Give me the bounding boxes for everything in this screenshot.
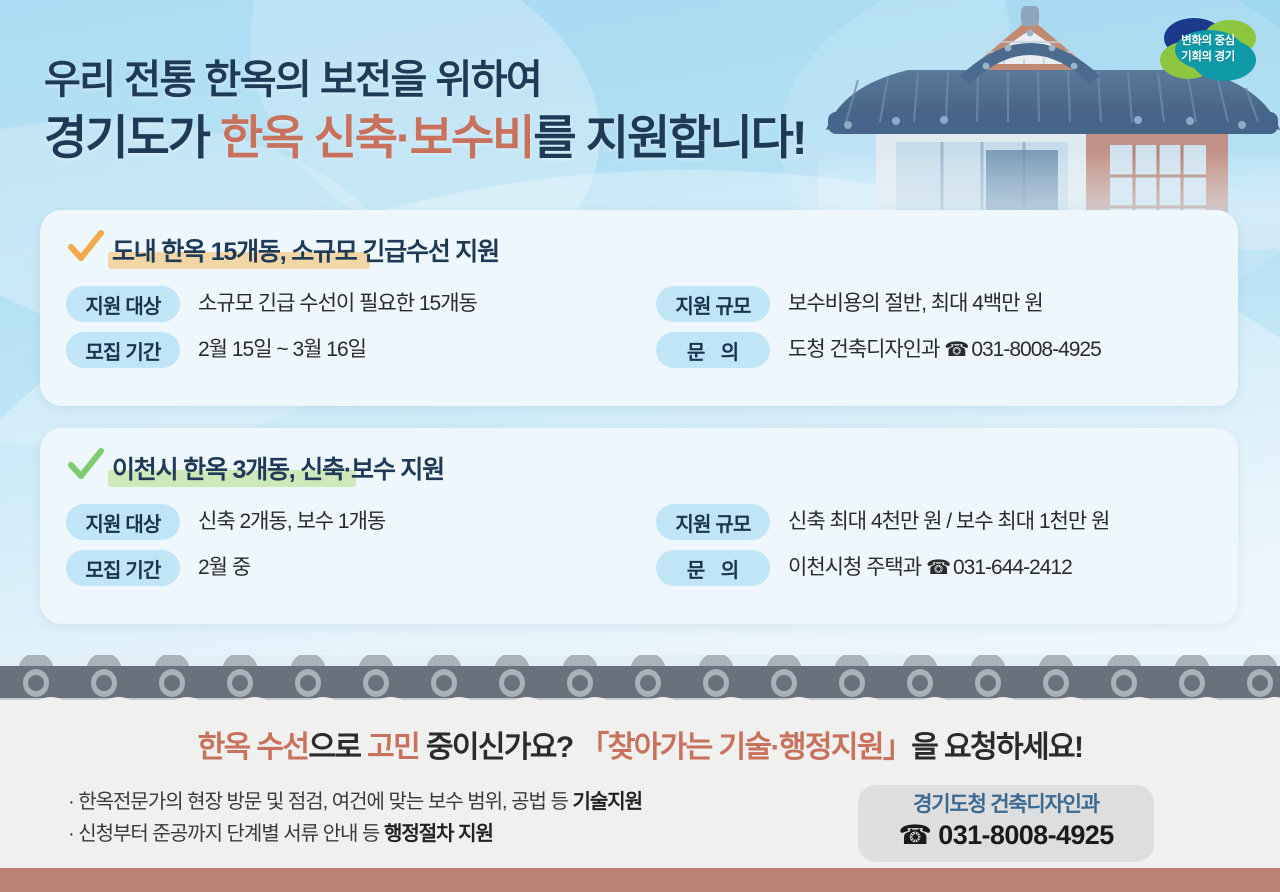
check-mark-icon (68, 230, 104, 264)
card-1-inquiry-dept: 도청 건축디자인과 (788, 338, 939, 361)
support-card-1: 도내 한옥 15개동, 소규모 긴급수선 지원 지원 대상 소규모 긴급 수선이… (40, 210, 1238, 406)
contact-telephone: ☎ 031-8008-4925 (858, 819, 1154, 853)
card-2-value-inquiry: 이천시청 주택과☎031-644-2412 (788, 550, 1072, 586)
card-1-row2-right: 문 의 도청 건축디자인과☎031-8008-4925 (656, 332, 1216, 368)
headline-line2-suffix: 를 지원합니다! (533, 111, 805, 164)
cta-part-3: 고민 (367, 731, 419, 764)
card-2-label-target: 지원 대상 (66, 504, 180, 540)
poster-root: 변화의 중심 기회의 경기 우리 전통 한옥의 보전을 위하여 경기도가 한옥 … (0, 0, 1280, 892)
card-1-value-amount: 보수비용의 절반, 최대 4백만 원 (788, 286, 1043, 322)
card-2-label-period: 모집 기간 (66, 550, 180, 586)
check-mark-icon (68, 448, 104, 482)
headline-line-2: 경기도가 한옥 신축·보수비를 지원합니다! (44, 112, 1164, 164)
bullet-1-text: · 한옥전문가의 현장 방문 및 점검, 여건에 맞는 보수 범위, 공법 등 (68, 791, 572, 813)
card-1-label-inquiry: 문 의 (656, 332, 770, 368)
card-2-title: 이천시 한옥 3개동, 신축·보수 지원 (112, 456, 444, 484)
benefit-bullet-list: · 한옥전문가의 현장 방문 및 점검, 여건에 맞는 보수 범위, 공법 등 … (68, 786, 642, 851)
benefit-bullet-item: · 신청부터 준공까지 단계별 서류 안내 등 행정절차 지원 (68, 818, 642, 850)
card-1-row1-right: 지원 규모 보수비용의 절반, 최대 4백만 원 (656, 286, 1216, 322)
cta-part-2: 으로 (308, 731, 367, 764)
logo-slogan-text: 변화의 중심 기회의 경기 (1154, 34, 1262, 65)
card-2-row-2: 모집 기간 2월 중 문 의 이천시청 주택과☎031-644-2412 (66, 550, 1216, 586)
benefit-bullet-item: · 한옥전문가의 현장 방문 및 점검, 여건에 맞는 보수 범위, 공법 등 … (68, 786, 642, 818)
card-2-row1-left: 지원 대상 신축 2개동, 보수 1개동 (66, 504, 656, 540)
contact-box[interactable]: 경기도청 건축디자인과 ☎ 031-8008-4925 (858, 785, 1154, 862)
cta-headline: 한옥 수선으로 고민 중이신가요? 「찾아가는 기술·행정지원」을 요청하세요! (0, 722, 1280, 766)
cta-part-1: 한옥 수선 (198, 731, 309, 764)
telephone-icon: ☎ (898, 820, 931, 850)
card-1-row1-left: 지원 대상 소규모 긴급 수선이 필요한 15개동 (66, 286, 656, 322)
bullet-2-text: · 신청부터 준공까지 단계별 서류 안내 등 (68, 823, 384, 845)
headline-line-1: 우리 전통 한옥의 보전을 위하여 (44, 58, 1164, 102)
card-1-rows: 지원 대상 소규모 긴급 수선이 필요한 15개동 지원 규모 보수비용의 절반… (66, 286, 1216, 378)
cta-part-5: 「찾아가는 기술·행정지원」 (579, 731, 911, 764)
bullet-1-emphasis: 기술지원 (572, 791, 642, 813)
contact-telephone-number: 031-8008-4925 (938, 820, 1113, 850)
card-1-label-period: 모집 기간 (66, 332, 180, 368)
card-1-value-target: 소규모 긴급 수선이 필요한 15개동 (198, 286, 477, 322)
card-2-row-1: 지원 대상 신축 2개동, 보수 1개동 지원 규모 신축 최대 4천만 원 /… (66, 504, 1216, 540)
headline-line2-accent: 한옥 신축·보수비 (220, 111, 533, 164)
card-1-header: 도내 한옥 15개동, 소규모 긴급수선 지원 (68, 232, 499, 268)
telephone-icon: ☎ (926, 557, 950, 579)
card-2-value-amount: 신축 최대 4천만 원 / 보수 최대 1천만 원 (788, 504, 1109, 540)
logo-slogan-line2: 기회의 경기 (1154, 50, 1262, 66)
cta-part-6: 을 요청하세요! (911, 731, 1082, 764)
card-1-row2-left: 모집 기간 2월 15일 ~ 3월 16일 (66, 332, 656, 368)
card-2-row1-right: 지원 규모 신축 최대 4천만 원 / 보수 최대 1천만 원 (656, 504, 1216, 540)
card-1-row-2: 모집 기간 2월 15일 ~ 3월 16일 문 의 도청 건축디자인과☎031-… (66, 332, 1216, 368)
card-2-row2-right: 문 의 이천시청 주택과☎031-644-2412 (656, 550, 1216, 586)
card-2-label-inquiry: 문 의 (656, 550, 770, 586)
card-1-title-wrap: 도내 한옥 15개동, 소규모 긴급수선 지원 (112, 232, 499, 268)
support-card-2: 이천시 한옥 3개동, 신축·보수 지원 지원 대상 신축 2개동, 보수 1개… (40, 428, 1238, 624)
telephone-icon: ☎ (944, 339, 968, 361)
card-1-title: 도내 한옥 15개동, 소규모 긴급수선 지원 (112, 238, 499, 266)
card-1-inquiry-phone: 031-8008-4925 (971, 338, 1100, 361)
card-2-value-period: 2월 중 (198, 550, 250, 586)
bullet-2-emphasis: 행정절차 지원 (384, 823, 493, 845)
card-1-label-amount: 지원 규모 (656, 286, 770, 322)
card-1-value-period: 2월 15일 ~ 3월 16일 (198, 332, 366, 368)
card-1-label-target: 지원 대상 (66, 286, 180, 322)
card-2-header: 이천시 한옥 3개동, 신축·보수 지원 (68, 450, 444, 486)
card-2-value-target: 신축 2개동, 보수 1개동 (198, 504, 385, 540)
headline-line2-prefix: 경기도가 (44, 111, 220, 164)
card-2-label-amount: 지원 규모 (656, 504, 770, 540)
card-1-row-1: 지원 대상 소규모 긴급 수선이 필요한 15개동 지원 규모 보수비용의 절반… (66, 286, 1216, 322)
card-2-title-wrap: 이천시 한옥 3개동, 신축·보수 지원 (112, 450, 444, 486)
logo-slogan-line1: 변화의 중심 (1154, 34, 1262, 50)
card-2-inquiry-dept: 이천시청 주택과 (788, 556, 921, 579)
footer-bar (0, 868, 1280, 892)
contact-department: 경기도청 건축디자인과 (858, 792, 1154, 818)
gyeonggi-slogan-logo: 변화의 중심 기회의 경기 (1154, 12, 1262, 88)
card-2-row2-left: 모집 기간 2월 중 (66, 550, 656, 586)
card-2-inquiry-phone: 031-644-2412 (953, 556, 1072, 579)
cta-part-4: 중이신가요? (419, 731, 579, 764)
card-2-rows: 지원 대상 신축 2개동, 보수 1개동 지원 규모 신축 최대 4천만 원 /… (66, 504, 1216, 596)
card-1-value-inquiry: 도청 건축디자인과☎031-8008-4925 (788, 332, 1101, 368)
headline-block: 우리 전통 한옥의 보전을 위하여 경기도가 한옥 신축·보수비를 지원합니다! (44, 58, 1164, 164)
